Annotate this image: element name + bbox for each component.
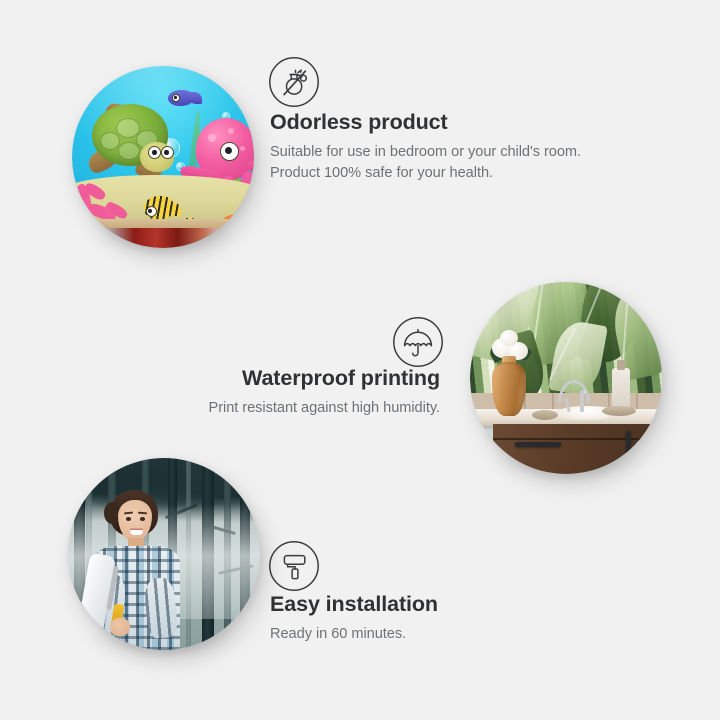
umbrella-icon [392,316,444,368]
shell-cell [100,132,120,150]
no-odor-perfume-bottle-icon [268,56,320,108]
feature-description: Ready in 60 minutes. [270,624,600,645]
shell-cell [118,142,140,160]
fish-pupil [174,96,177,99]
gold-vase [492,362,526,416]
feature-title: Easy installation [270,592,600,618]
paint-roller-icon [268,540,320,592]
woman-forest-wallpaper-photo[interactable] [68,458,260,650]
octopus-spot [228,128,234,134]
soap-pump[interactable] [617,360,625,370]
woman-eye [140,517,145,521]
white-flower [500,330,518,346]
woman-smile [130,530,143,535]
cabinet-seam [493,438,662,440]
photo-inner [68,458,260,650]
feature-description: Print resistant against high humidity. [150,398,440,419]
wood-vanity-cabinet [493,424,662,474]
soap-tray [532,410,558,420]
octopus-pupil [225,147,232,154]
tray [602,406,636,416]
striped-fish-tail [167,202,181,216]
octopus-spot [240,146,245,151]
easy-installation-text-block: Easy installation Ready in 60 minutes. [270,592,600,645]
octopus-spot [208,134,216,142]
faucet-stem [580,390,584,412]
fish-pupil [148,209,152,213]
odorless-text-block: Odorless product Suitable for use in bed… [270,110,610,183]
feature-title: Waterproof printing [150,366,440,392]
photo-inner [470,282,662,474]
turtle-pupil [164,150,169,155]
blue-fish-tail [188,92,202,104]
turtle-pupil [152,150,157,155]
woman-hand [110,618,130,636]
features-page: Odorless product Suitable for use in bed… [0,0,720,720]
cabinet-drawer-handle[interactable] [515,442,561,447]
waterproof-text-block: Waterproof printing Print resistant agai… [150,366,440,419]
photo-inner [72,66,254,248]
room-interior-strip [72,228,254,248]
woman-eye [126,517,131,521]
bathroom-palm-wallpaper-photo[interactable] [470,282,662,474]
underwater-cartoon-wallpaper-photo[interactable] [72,66,254,248]
feature-title: Odorless product [270,110,610,136]
feature-description: Suitable for use in bedroom or your chil… [270,142,610,183]
cabinet-door-handle[interactable] [626,431,631,474]
soap-dispenser[interactable] [612,368,630,410]
